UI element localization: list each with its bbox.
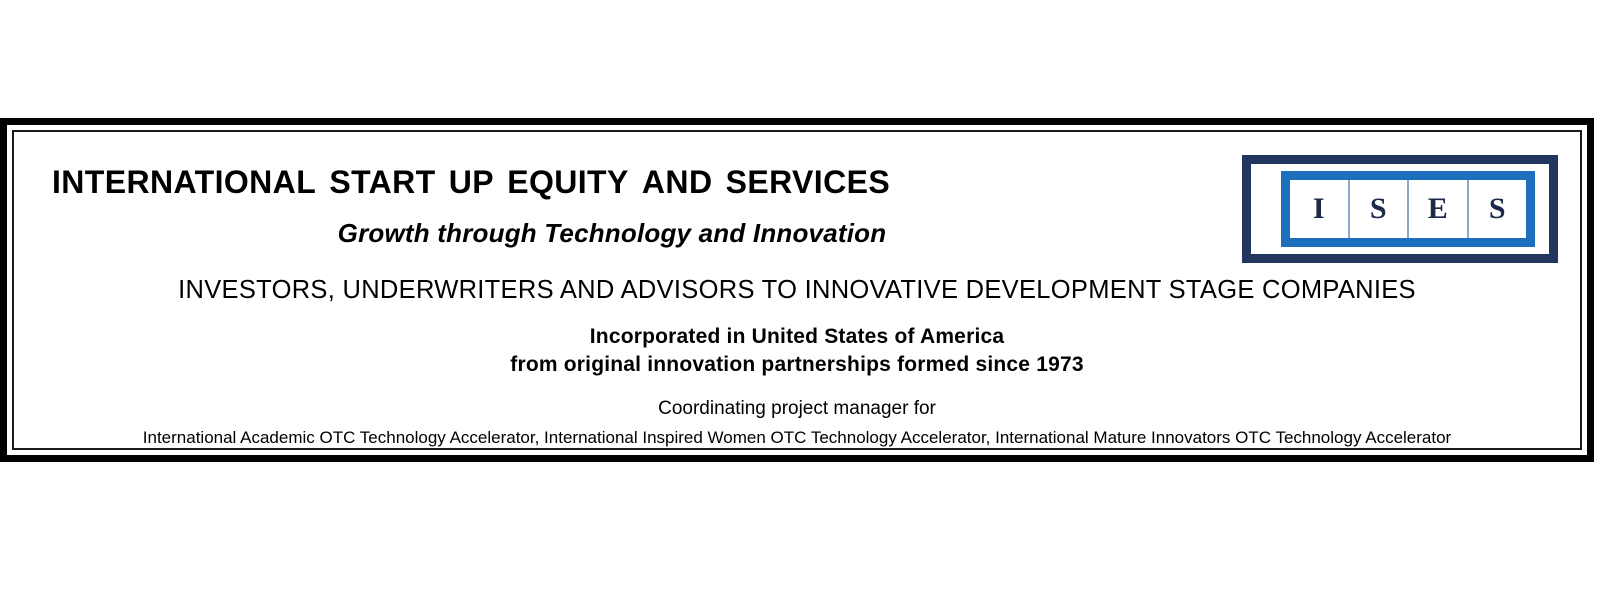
role-description-line: INVESTORS, UNDERWRITERS AND ADVISORS TO … xyxy=(22,276,1572,305)
accelerators-line: International Academic OTC Technology Ac… xyxy=(22,428,1572,448)
letterhead-inner-border: International Start up Equity and Servic… xyxy=(12,130,1582,450)
logo-letter-cell-3: E xyxy=(1409,180,1469,238)
incorporation-line-2: from original innovation partnerships fo… xyxy=(22,351,1572,379)
document-page: International Start up Equity and Servic… xyxy=(0,0,1600,599)
ises-logo: I S E S xyxy=(1242,155,1558,263)
letterhead-outer-border: International Start up Equity and Servic… xyxy=(0,118,1594,462)
title-row: International Start up Equity and Servic… xyxy=(22,142,1572,260)
ises-logo-inner-frame: I S E S xyxy=(1281,171,1535,247)
company-title: International Start up Equity and Servic… xyxy=(52,154,890,200)
incorporation-line-1: Incorporated in United States of America xyxy=(22,323,1572,351)
logo-letter-cell-4: S xyxy=(1469,180,1527,238)
logo-letter-cell-1: I xyxy=(1290,180,1350,238)
incorporation-block: Incorporated in United States of America… xyxy=(22,323,1572,378)
coordinating-label: Coordinating project manager for xyxy=(22,398,1572,420)
letterhead-content: International Start up Equity and Servic… xyxy=(14,132,1580,448)
company-tagline: Growth through Technology and Innovation xyxy=(22,218,1202,249)
logo-letter-cell-2: S xyxy=(1350,180,1410,238)
